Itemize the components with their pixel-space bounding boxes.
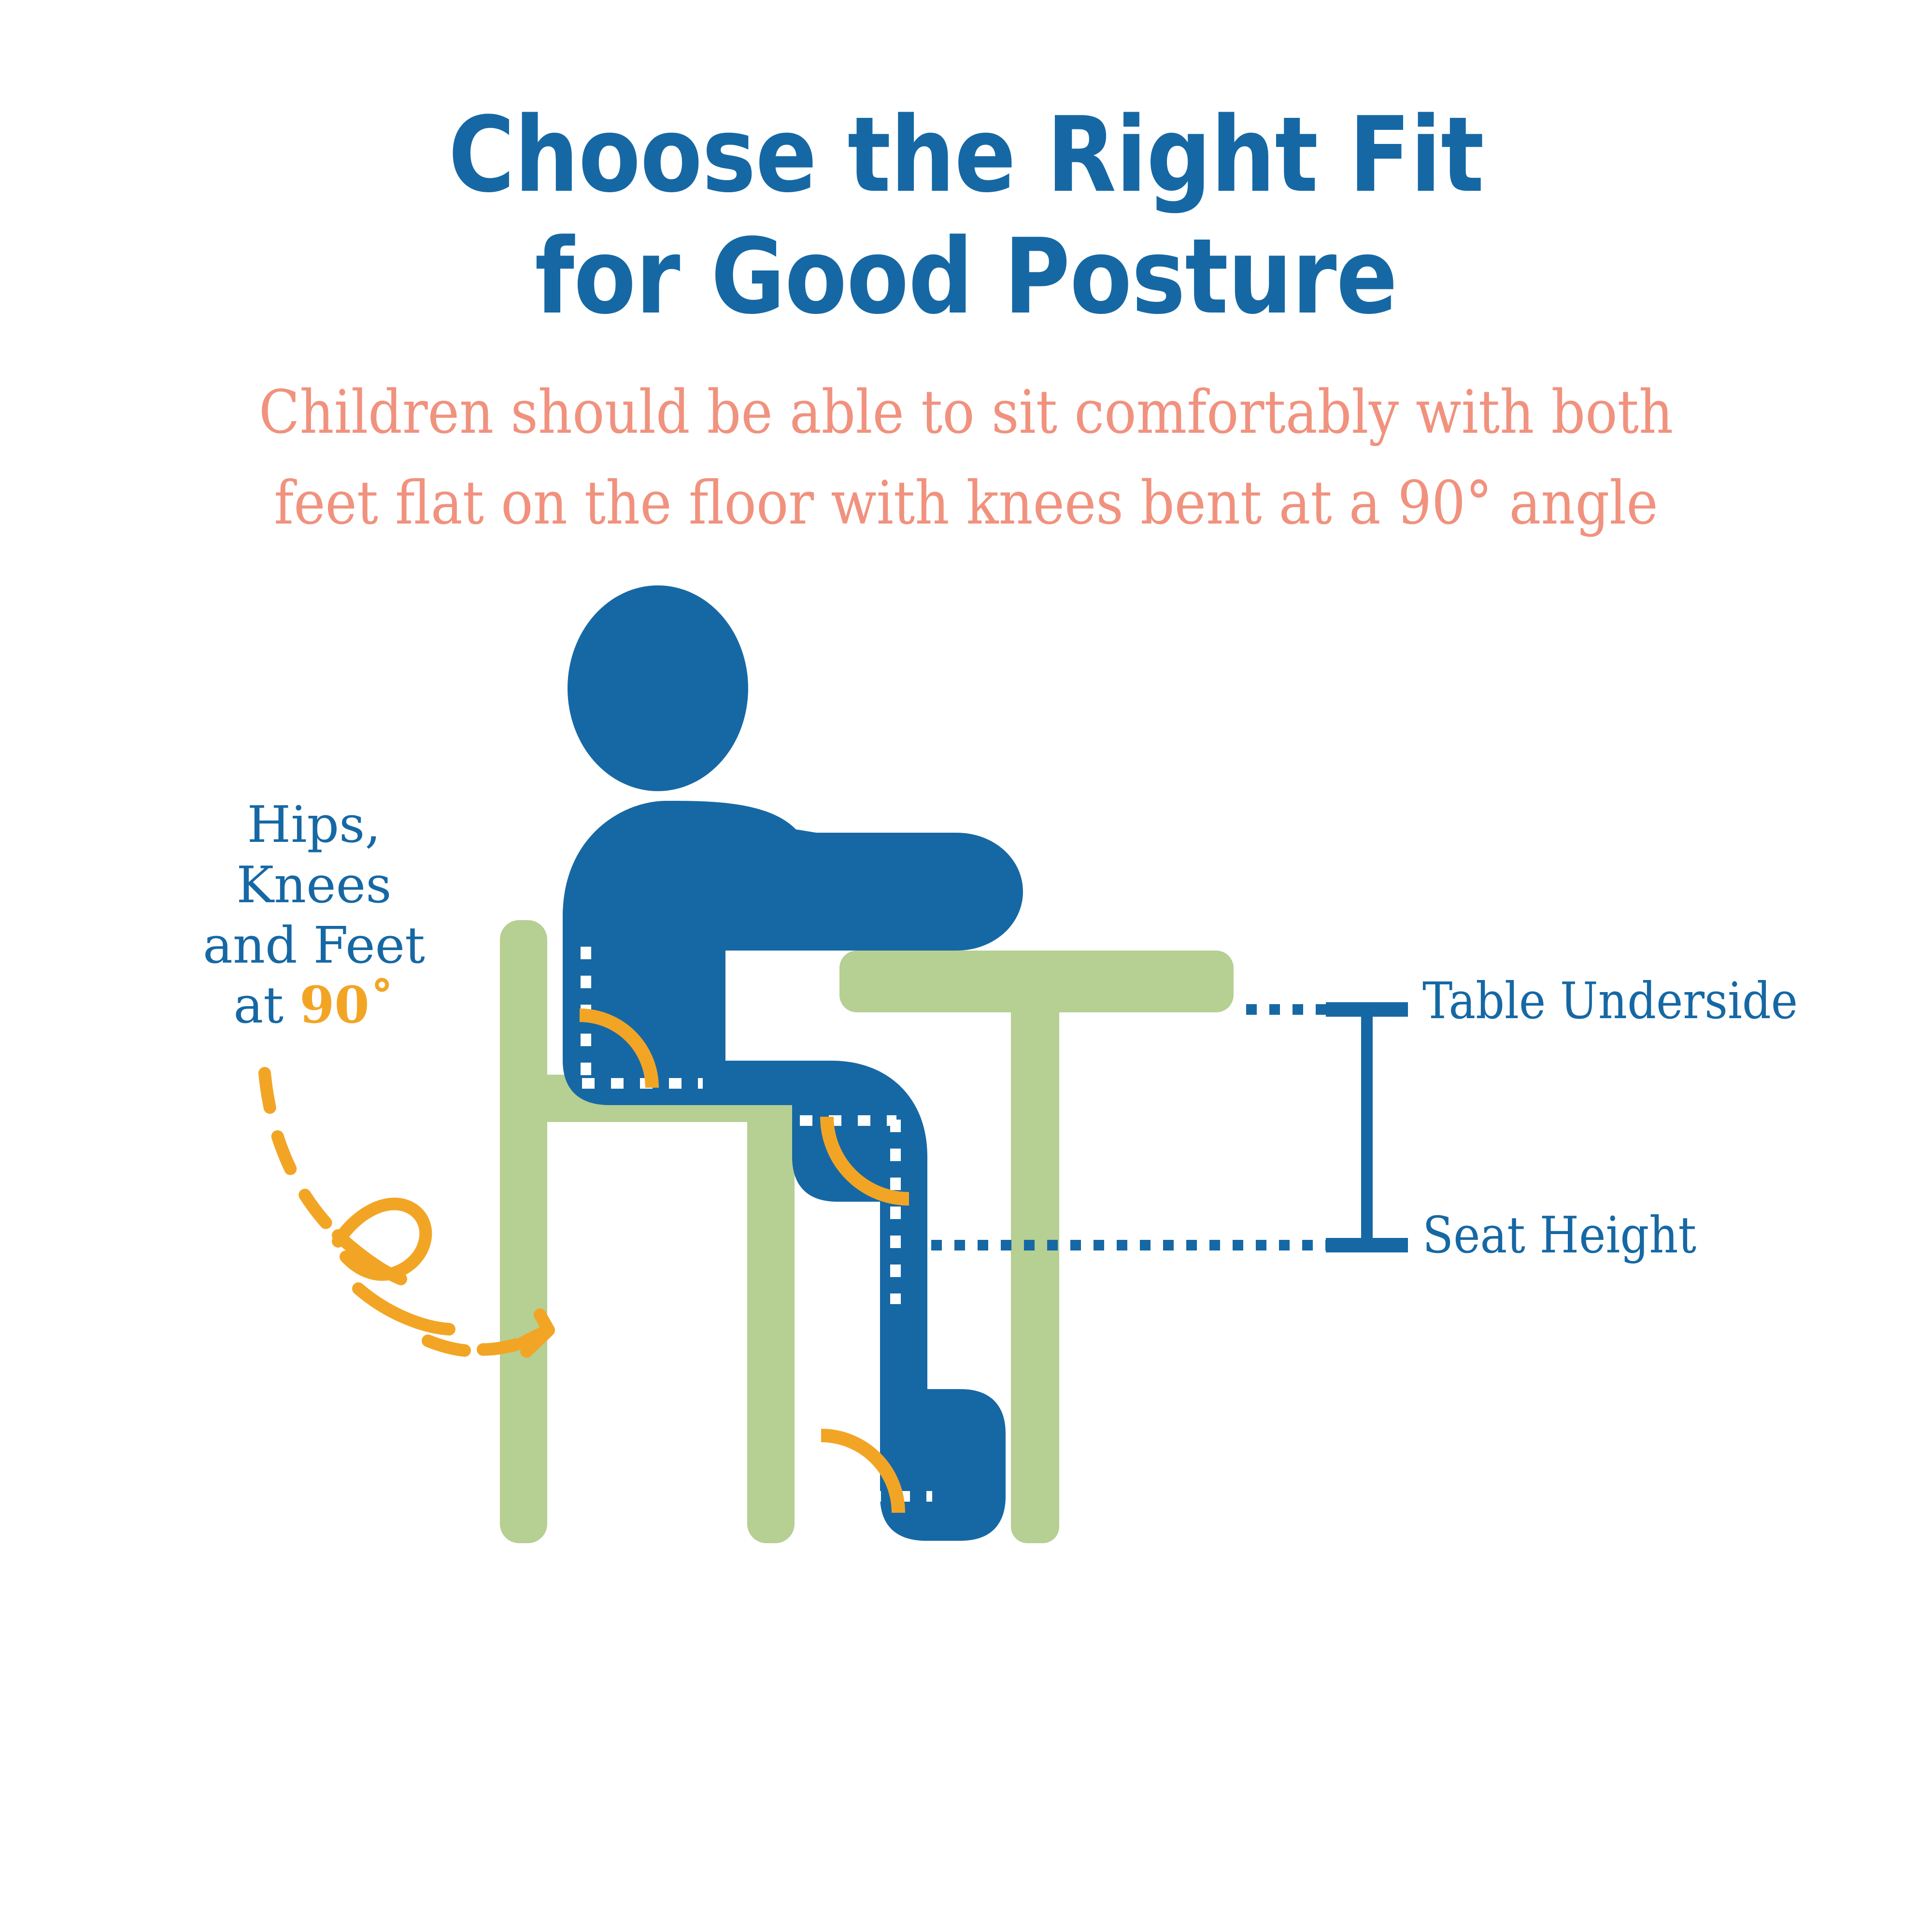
arrow-solid-segment-2 xyxy=(358,1289,449,1329)
posture-illustration xyxy=(0,0,1932,1932)
table-leg xyxy=(1011,995,1059,1543)
arrow-head-barb xyxy=(540,1315,549,1330)
chair-back-post xyxy=(500,920,547,1543)
figure-arm xyxy=(715,816,816,951)
figure-head xyxy=(568,585,748,791)
arrow-tail-dash xyxy=(428,1341,465,1350)
arrow-tail-dash-2 xyxy=(483,1345,516,1350)
infographic-canvas: Choose the Right Fit for Good Posture Ch… xyxy=(0,0,1932,1932)
arrow-dashed-tail xyxy=(265,1073,338,1236)
chair-front-leg xyxy=(747,1075,795,1543)
dimension-annotations xyxy=(908,1009,1408,1245)
